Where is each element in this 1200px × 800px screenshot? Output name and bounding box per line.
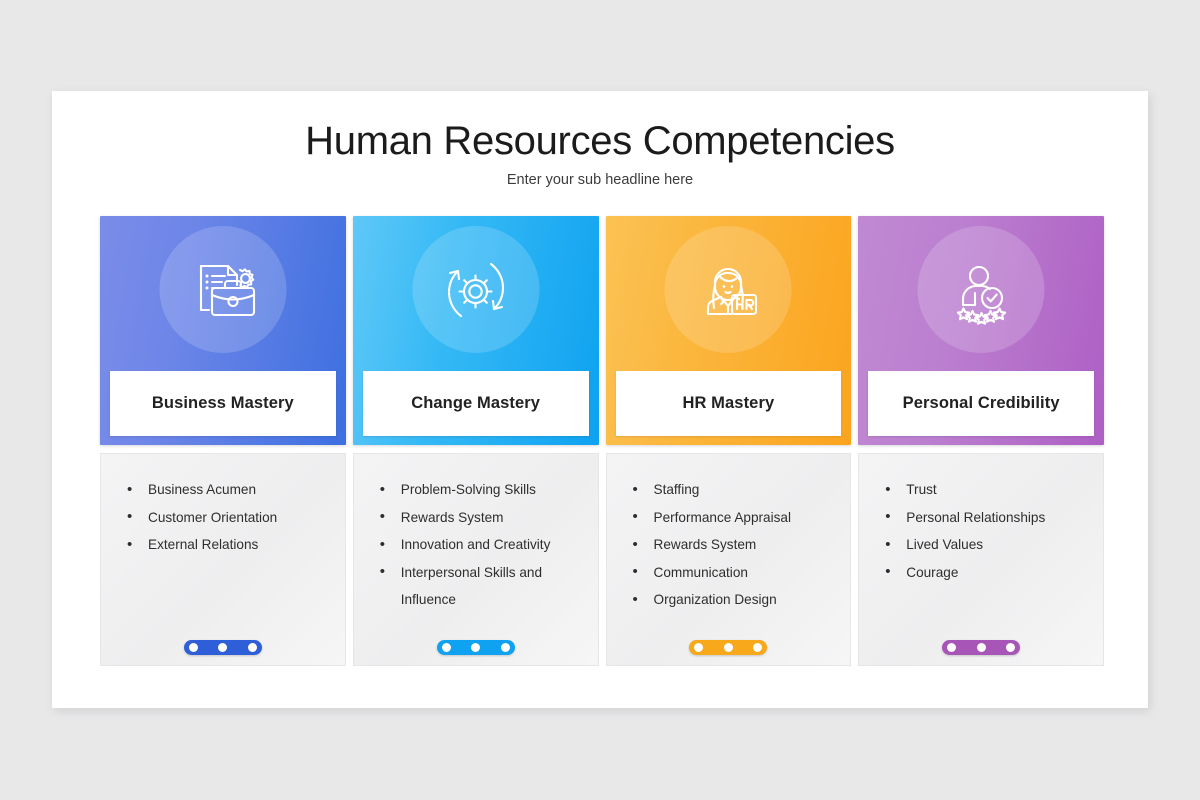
detail-card-change-mastery: Problem-Solving Skills Rewards System In… [353,453,599,666]
pill-dot [947,643,956,652]
list-item: Rewards System [629,531,837,559]
list-item: Courage [881,559,1089,587]
list-item: Rewards System [376,504,584,532]
competency-card-hr-mastery[interactable]: HR Mastery [606,216,852,445]
competency-header-row: Business Mastery [100,216,1104,445]
competency-card-personal-credibility[interactable]: Personal Credibility [858,216,1104,445]
list-item: Interpersonal Skills and Influence [376,559,584,614]
pill-dot [977,643,986,652]
slide-canvas: Human Resources Competencies Enter your … [0,0,1200,800]
list-item: Innovation and Creativity [376,531,584,559]
pill-dot [248,643,257,652]
pill-dot [501,643,510,652]
bullet-list: Business Acumen Customer Orientation Ext… [123,476,331,559]
hr-person-sign-icon [682,244,774,336]
competency-detail-row: Business Acumen Customer Orientation Ext… [100,453,1104,666]
pill-dot [1006,643,1015,652]
list-item: Organization Design [629,586,837,614]
list-item: Trust [881,476,1089,504]
list-item: Problem-Solving Skills [376,476,584,504]
list-item: Communication [629,559,837,587]
pill-dot [189,643,198,652]
progress-pill-indicator[interactable] [184,640,262,655]
pill-dot [694,643,703,652]
detail-card-business-mastery: Business Acumen Customer Orientation Ext… [100,453,346,666]
list-item: Performance Appraisal [629,504,837,532]
competency-card-label: HR Mastery [616,371,842,436]
competency-card-label: Change Mastery [363,371,589,436]
competency-card-business-mastery[interactable]: Business Mastery [100,216,346,445]
briefcase-document-gear-icon [177,244,269,336]
list-item: Lived Values [881,531,1089,559]
progress-pill-indicator[interactable] [437,640,515,655]
list-item: Business Acumen [123,476,331,504]
bullet-list: Problem-Solving Skills Rewards System In… [376,476,584,614]
competency-card-label: Personal Credibility [868,371,1094,436]
person-check-stars-icon [935,244,1027,336]
list-item: Customer Orientation [123,504,331,532]
list-item: External Relations [123,531,331,559]
competency-card-change-mastery[interactable]: Change Mastery [353,216,599,445]
pill-dot [218,643,227,652]
bullet-list: Trust Personal Relationships Lived Value… [881,476,1089,586]
list-item: Staffing [629,476,837,504]
bullet-list: Staffing Performance Appraisal Rewards S… [629,476,837,614]
progress-pill-indicator[interactable] [689,640,767,655]
detail-card-personal-credibility: Trust Personal Relationships Lived Value… [858,453,1104,666]
pill-dot [471,643,480,652]
page-title: Human Resources Competencies [52,119,1148,164]
gear-refresh-cycle-icon [430,244,522,336]
progress-pill-indicator[interactable] [942,640,1020,655]
slide-panel: Human Resources Competencies Enter your … [52,91,1148,708]
list-item: Personal Relationships [881,504,1089,532]
pill-dot [442,643,451,652]
detail-card-hr-mastery: Staffing Performance Appraisal Rewards S… [606,453,852,666]
pill-dot [724,643,733,652]
pill-dot [753,643,762,652]
page-subtitle: Enter your sub headline here [52,172,1148,188]
competency-card-label: Business Mastery [110,371,336,436]
